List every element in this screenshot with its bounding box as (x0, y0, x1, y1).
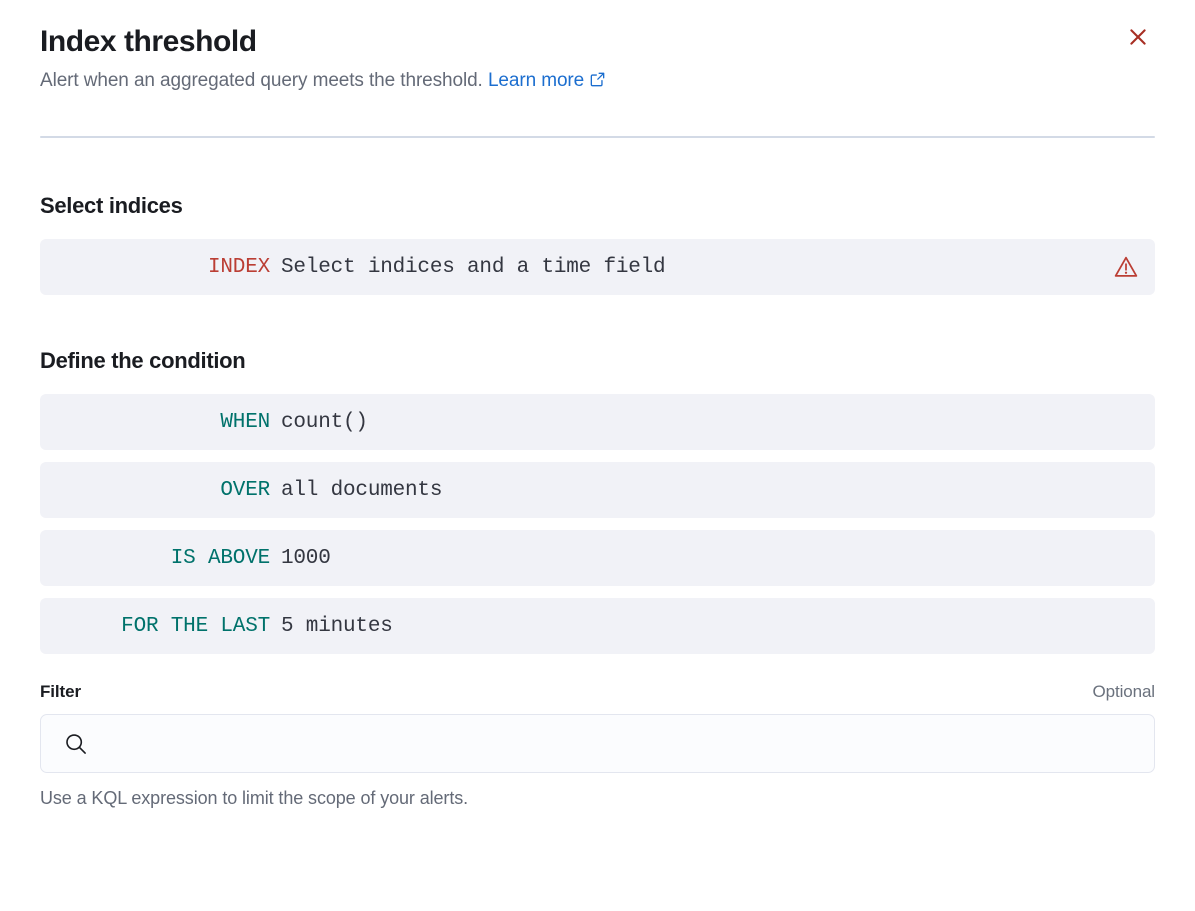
expression-keyword-when: WHEN (40, 411, 270, 434)
filter-input[interactable] (41, 715, 1154, 772)
expression-value-when: count() (281, 411, 368, 434)
expression-keyword-over: OVER (40, 479, 270, 502)
expression-row-index[interactable]: INDEX Select indices and a time field (40, 239, 1155, 295)
filter-input-wrapper[interactable] (40, 714, 1155, 773)
learn-more-label: Learn more (488, 70, 584, 91)
warning-triangle-icon (1113, 254, 1139, 280)
expression-value-over: all documents (281, 479, 442, 502)
external-link-icon (589, 69, 606, 97)
page-title: Index threshold (40, 22, 1155, 62)
filter-optional-label: Optional (1092, 682, 1155, 702)
expression-row-is-above[interactable]: IS ABOVE 1000 (40, 530, 1155, 586)
index-threshold-panel: Index threshold Alert when an aggregated… (0, 0, 1195, 911)
expression-value-index: Select indices and a time field (281, 256, 665, 279)
condition-expression-list: WHEN count() OVER all documents IS ABOVE… (40, 394, 1155, 654)
expression-value-for-the-last: 5 minutes (281, 615, 393, 638)
header-divider (40, 136, 1155, 138)
panel-subtitle: Alert when an aggregated query meets the… (40, 67, 1155, 97)
expression-value-is-above: 1000 (281, 547, 331, 570)
filter-block: Filter Optional Use a KQL expression to … (40, 682, 1155, 811)
close-icon (1127, 26, 1149, 51)
expression-row-when[interactable]: WHEN count() (40, 394, 1155, 450)
close-button[interactable] (1121, 21, 1155, 55)
section-title-define-condition: Define the condition (40, 346, 1155, 376)
filter-label-row: Filter Optional (40, 682, 1155, 702)
expression-keyword-for-the-last: FOR THE LAST (40, 615, 270, 638)
learn-more-link[interactable]: Learn more (488, 70, 606, 91)
expression-row-over[interactable]: OVER all documents (40, 462, 1155, 518)
panel-header: Index threshold Alert when an aggregated… (40, 0, 1155, 97)
subtitle-text: Alert when an aggregated query meets the… (40, 70, 483, 91)
filter-label: Filter (40, 682, 81, 702)
filter-help-text: Use a KQL expression to limit the scope … (40, 785, 1155, 811)
indices-expression-list: INDEX Select indices and a time field (40, 239, 1155, 295)
expression-keyword-index: INDEX (40, 256, 270, 279)
section-title-select-indices: Select indices (40, 191, 1155, 221)
expression-keyword-is-above: IS ABOVE (40, 547, 270, 570)
expression-row-for-the-last[interactable]: FOR THE LAST 5 minutes (40, 598, 1155, 654)
